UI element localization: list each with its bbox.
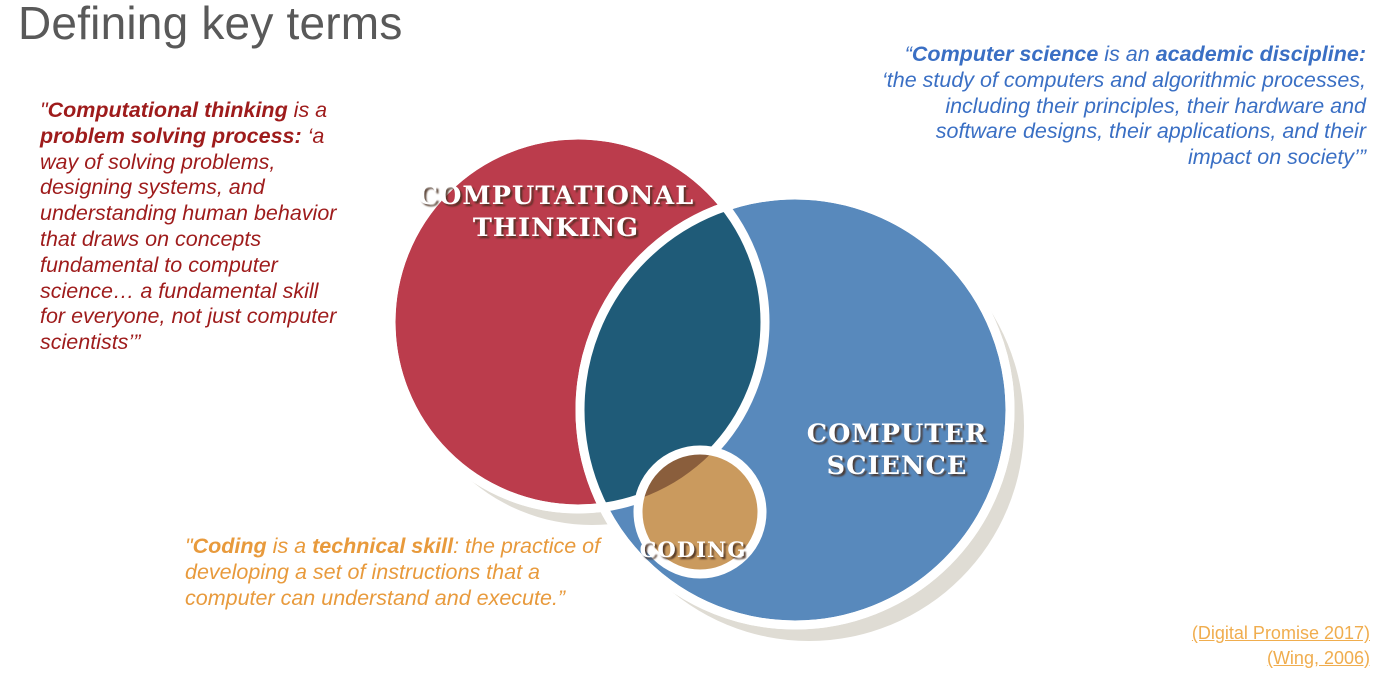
venn-label-computational-thinking-line2: THINKING — [473, 213, 639, 243]
quote-coding-connector: is a — [267, 534, 312, 558]
citation-link-wing[interactable]: (Wing, 2006) — [1192, 646, 1370, 670]
quote-coding: "Coding is a technical skill: the practi… — [185, 534, 605, 611]
quote-computer-science: “Computer science is an academic discipl… — [876, 42, 1366, 171]
quote-computational-thinking: "Computational thinking is a problem sol… — [40, 98, 340, 356]
quote-cs-body: ‘the study of computers and algorithmic … — [882, 68, 1366, 169]
quote-ct-body: ‘a way of solving problems, designing sy… — [40, 124, 336, 354]
quote-coding-open-quote: " — [185, 534, 193, 558]
venn-label-computer-science-line1: COMPUTER — [807, 419, 988, 449]
quote-ct-bold-term: Computational thinking — [48, 98, 288, 122]
quote-cs-bold-term: Computer science — [912, 42, 1098, 66]
quote-coding-bold-term: Coding — [193, 534, 267, 558]
page-title: Defining key terms — [18, 0, 403, 50]
quote-cs-open-quote: “ — [905, 42, 912, 66]
quote-ct-open-quote: " — [40, 98, 48, 122]
venn-label-computer-science-line2: SCIENCE — [827, 451, 968, 481]
quote-ct-bold-phrase: problem solving process: — [40, 124, 302, 148]
quote-coding-bold-phrase: technical skill — [312, 534, 453, 558]
venn-label-coding: CODING — [640, 537, 747, 562]
citation-link-digital-promise[interactable]: (Digital Promise 2017) — [1192, 621, 1370, 645]
citations: (Digital Promise 2017) (Wing, 2006) — [1192, 621, 1370, 670]
quote-cs-bold-phrase: academic discipline: — [1156, 42, 1366, 66]
quote-ct-connector: is a — [288, 98, 327, 122]
quote-cs-connector: is an — [1098, 42, 1155, 66]
slide-canvas: Defining key terms — [0, 0, 1384, 676]
venn-label-computational-thinking-line1: COMPUTATIONAL — [418, 181, 695, 211]
